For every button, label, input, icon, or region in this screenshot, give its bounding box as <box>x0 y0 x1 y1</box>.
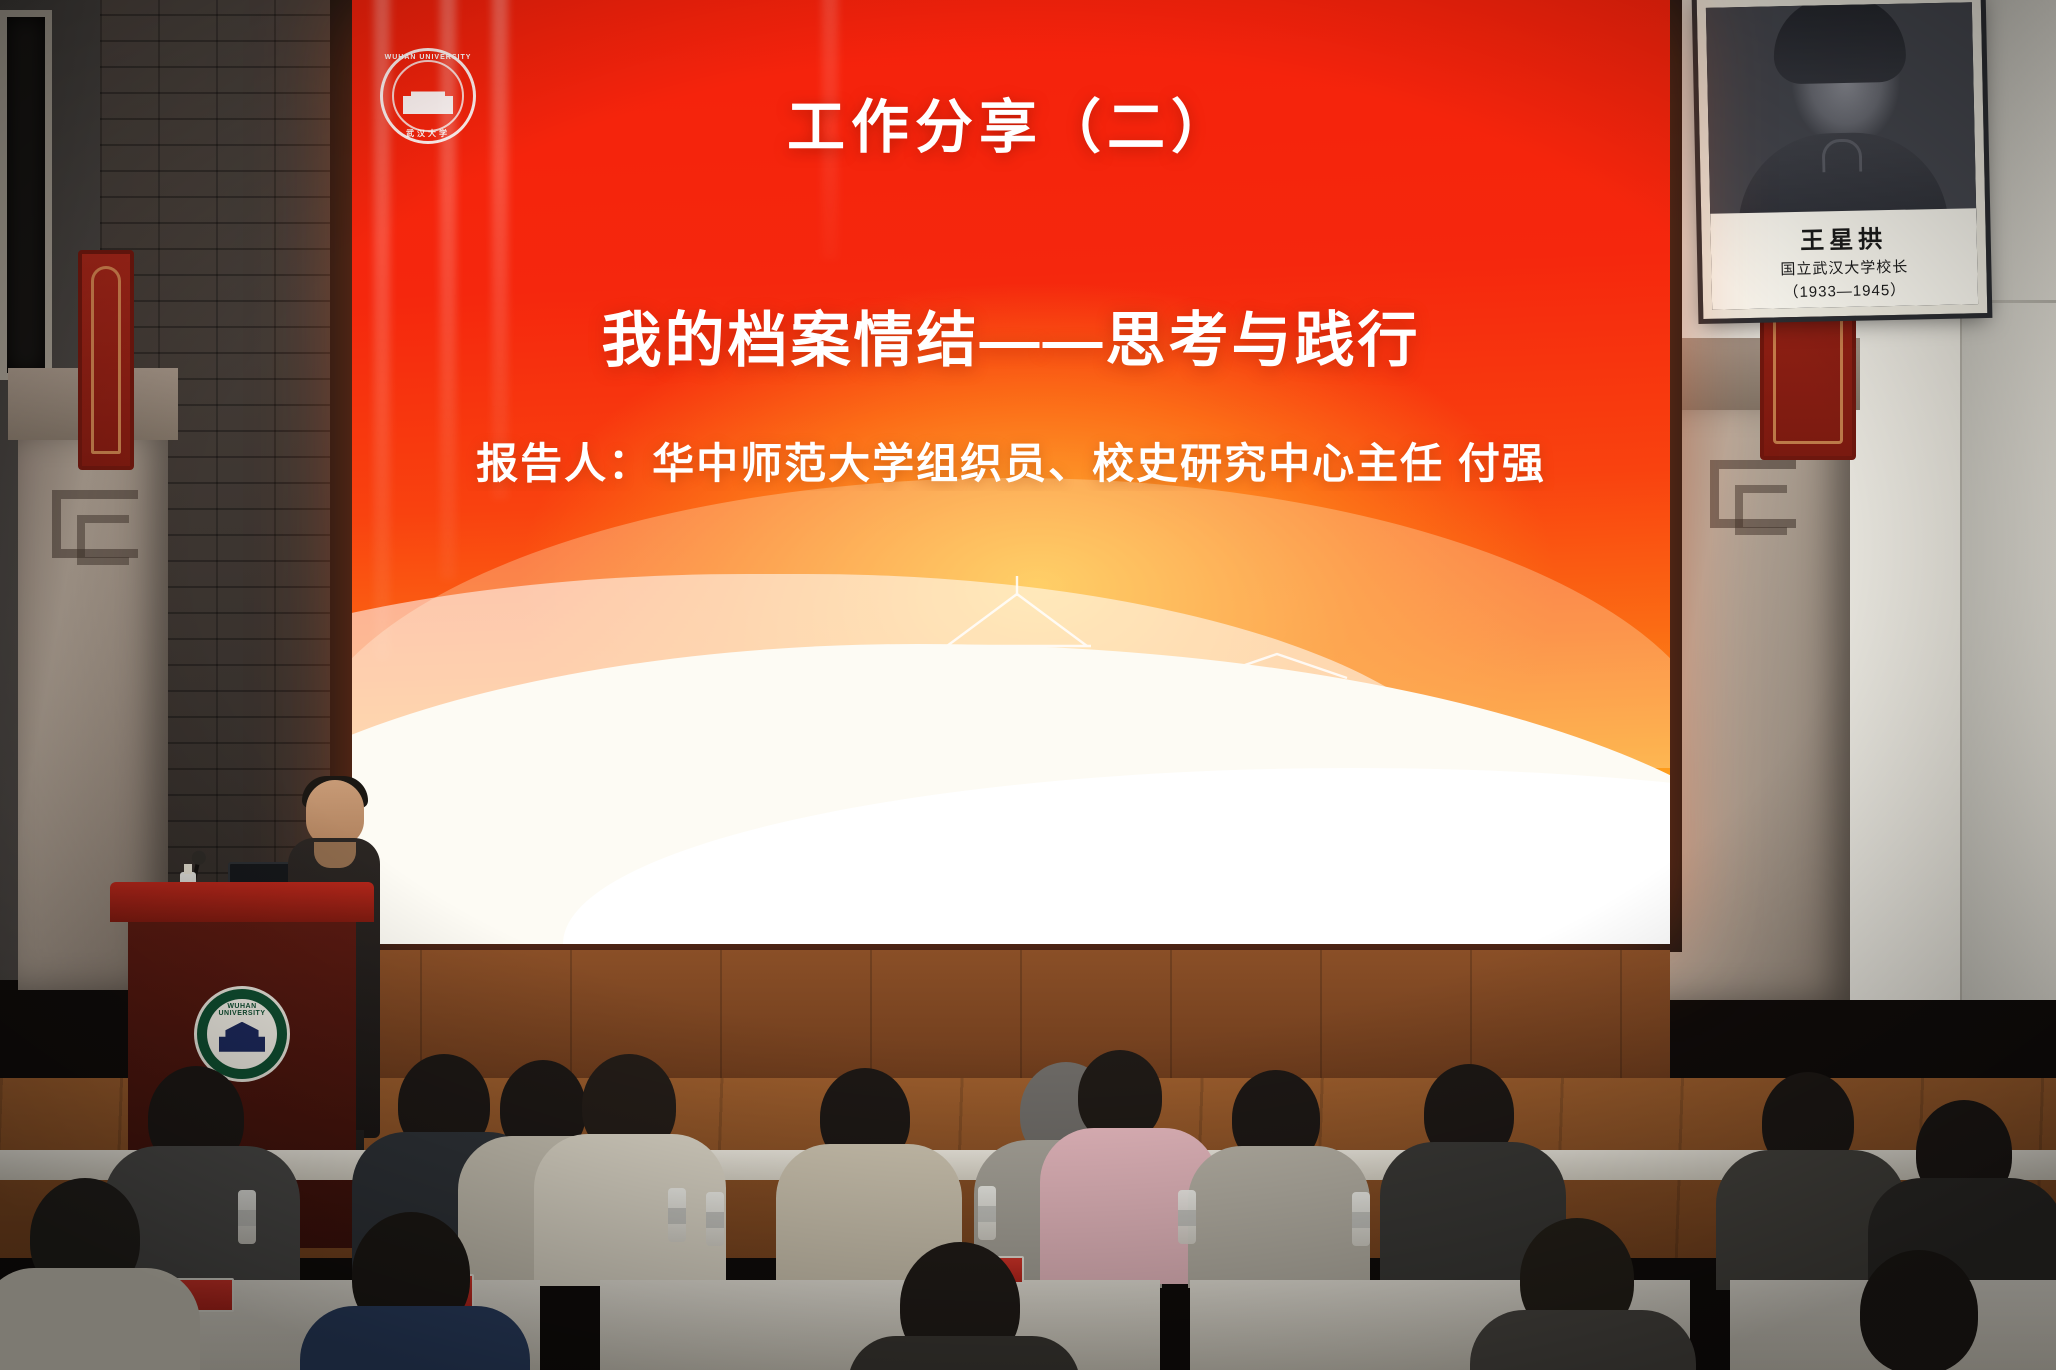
presenter-collar <box>314 842 356 868</box>
silk-fold-streak <box>492 0 508 500</box>
portrait-photo <box>1706 2 1977 232</box>
portrait-role: 国立武汉大学校长 <box>1780 255 1908 279</box>
water-bottle <box>668 1188 686 1242</box>
portrait-hair <box>1773 0 1907 84</box>
audience-body <box>0 1268 200 1370</box>
presenter-head <box>306 780 364 846</box>
framed-portrait: 王星拱 国立武汉大学校长 （1933—1945） <box>1697 0 1988 319</box>
audience-area <box>0 950 2056 1370</box>
red-lacquer-panel-left <box>78 250 134 470</box>
water-bottle <box>706 1192 724 1246</box>
wall-frame-left <box>0 10 52 380</box>
portrait-caption: 王星拱 国立武汉大学校长 （1933—1945） <box>1710 208 1978 310</box>
water-bottle <box>1352 1192 1370 1246</box>
portrait-years: （1933—1945） <box>1783 278 1906 302</box>
audience-body <box>1470 1310 1696 1370</box>
water-bottle <box>238 1190 256 1244</box>
seal-top-text: WUHAN UNIVERSITY <box>383 54 473 61</box>
audience-head <box>1860 1250 1978 1370</box>
audience-body <box>534 1134 726 1286</box>
slide-presenter: 报告人：华中师范大学组织员、校史研究中心主任 付强 <box>352 430 1670 491</box>
slide-subtitle: 我的档案情结——思考与践行 <box>352 292 1670 379</box>
audience-body <box>848 1336 1080 1370</box>
audience-body <box>1188 1146 1370 1288</box>
water-bottle <box>1178 1190 1196 1244</box>
water-bottle <box>978 1186 996 1240</box>
slide-title: 工作分享（二） <box>352 80 1670 164</box>
lecture-hall-scene: 王星拱 国立武汉大学校长 （1933—1945） <box>0 0 2056 1370</box>
greek-key-ornament-icon <box>52 490 138 558</box>
projection-screen: WUHAN UNIVERSITY 武汉大学 工作分享（二） 我的档案情结——思考… <box>352 0 1670 944</box>
lectern-top-surface <box>110 882 374 922</box>
portrait-name: 王星拱 <box>1800 219 1888 256</box>
audience-body <box>300 1306 530 1370</box>
greek-key-ornament-icon <box>1710 460 1796 528</box>
